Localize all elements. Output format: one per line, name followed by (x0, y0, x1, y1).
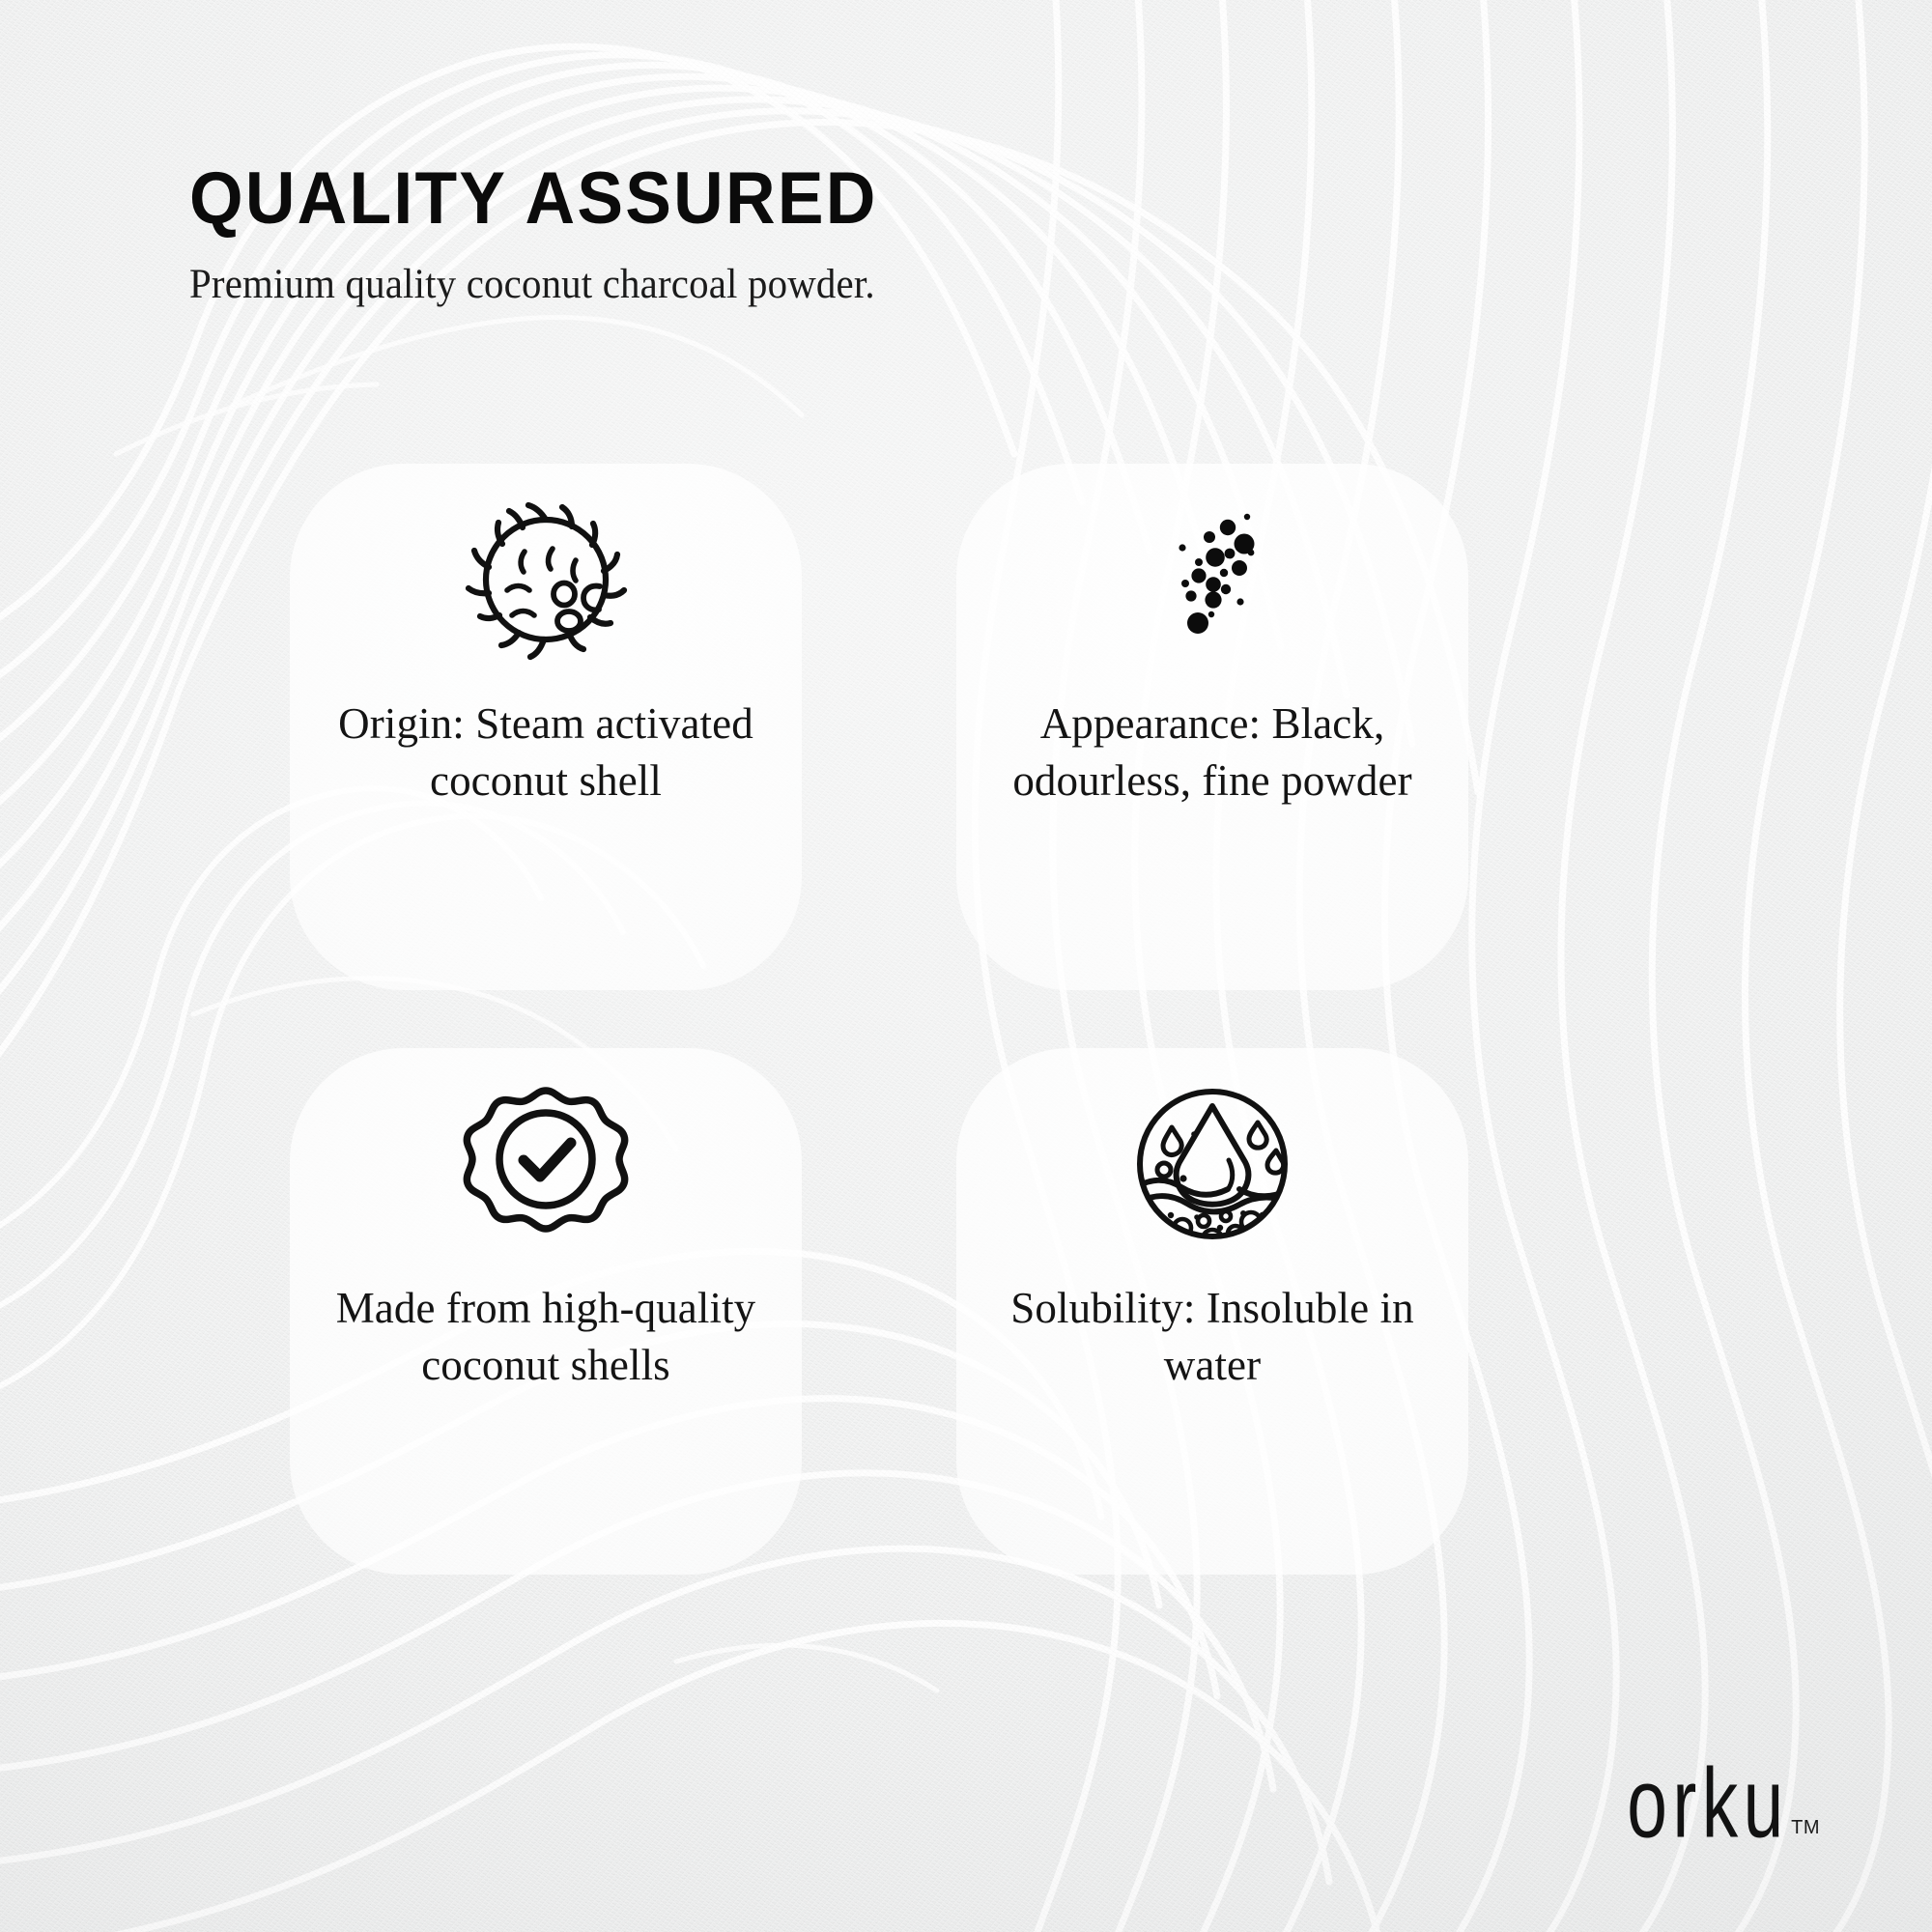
feature-card-solubility: Solubility: Insoluble in water (956, 1048, 1468, 1575)
feature-label: Appearance: Black, odourless, fine powde… (956, 696, 1468, 809)
brand-logo: orku TM (1581, 1764, 1820, 1849)
powder-dots-icon (956, 464, 1468, 696)
water-droplet-sediment-icon (956, 1048, 1468, 1280)
brand-wordmark: orku (1628, 1758, 1790, 1849)
page-subtitle: Premium quality coconut charcoal powder. (189, 261, 885, 308)
feature-label: Made from high-quality coconut shells (290, 1280, 802, 1393)
feature-card-quality: Made from high-quality coconut shells (290, 1048, 802, 1575)
feature-card-appearance: Appearance: Black, odourless, fine powde… (956, 464, 1468, 990)
verified-badge-check-icon (290, 1048, 802, 1280)
header: QUALITY ASSURED Premium quality coconut … (189, 162, 922, 308)
feature-label: Origin: Steam activated coconut shell (290, 696, 802, 809)
feature-grid: Origin: Steam activated coconut shell (290, 464, 1662, 1575)
feature-label: Solubility: Insoluble in water (956, 1280, 1468, 1393)
infographic-page: QUALITY ASSURED Premium quality coconut … (0, 0, 1932, 1932)
coconut-icon (290, 464, 802, 696)
trademark-symbol: TM (1791, 1817, 1820, 1839)
page-title: QUALITY ASSURED (189, 162, 878, 236)
feature-card-origin: Origin: Steam activated coconut shell (290, 464, 802, 990)
